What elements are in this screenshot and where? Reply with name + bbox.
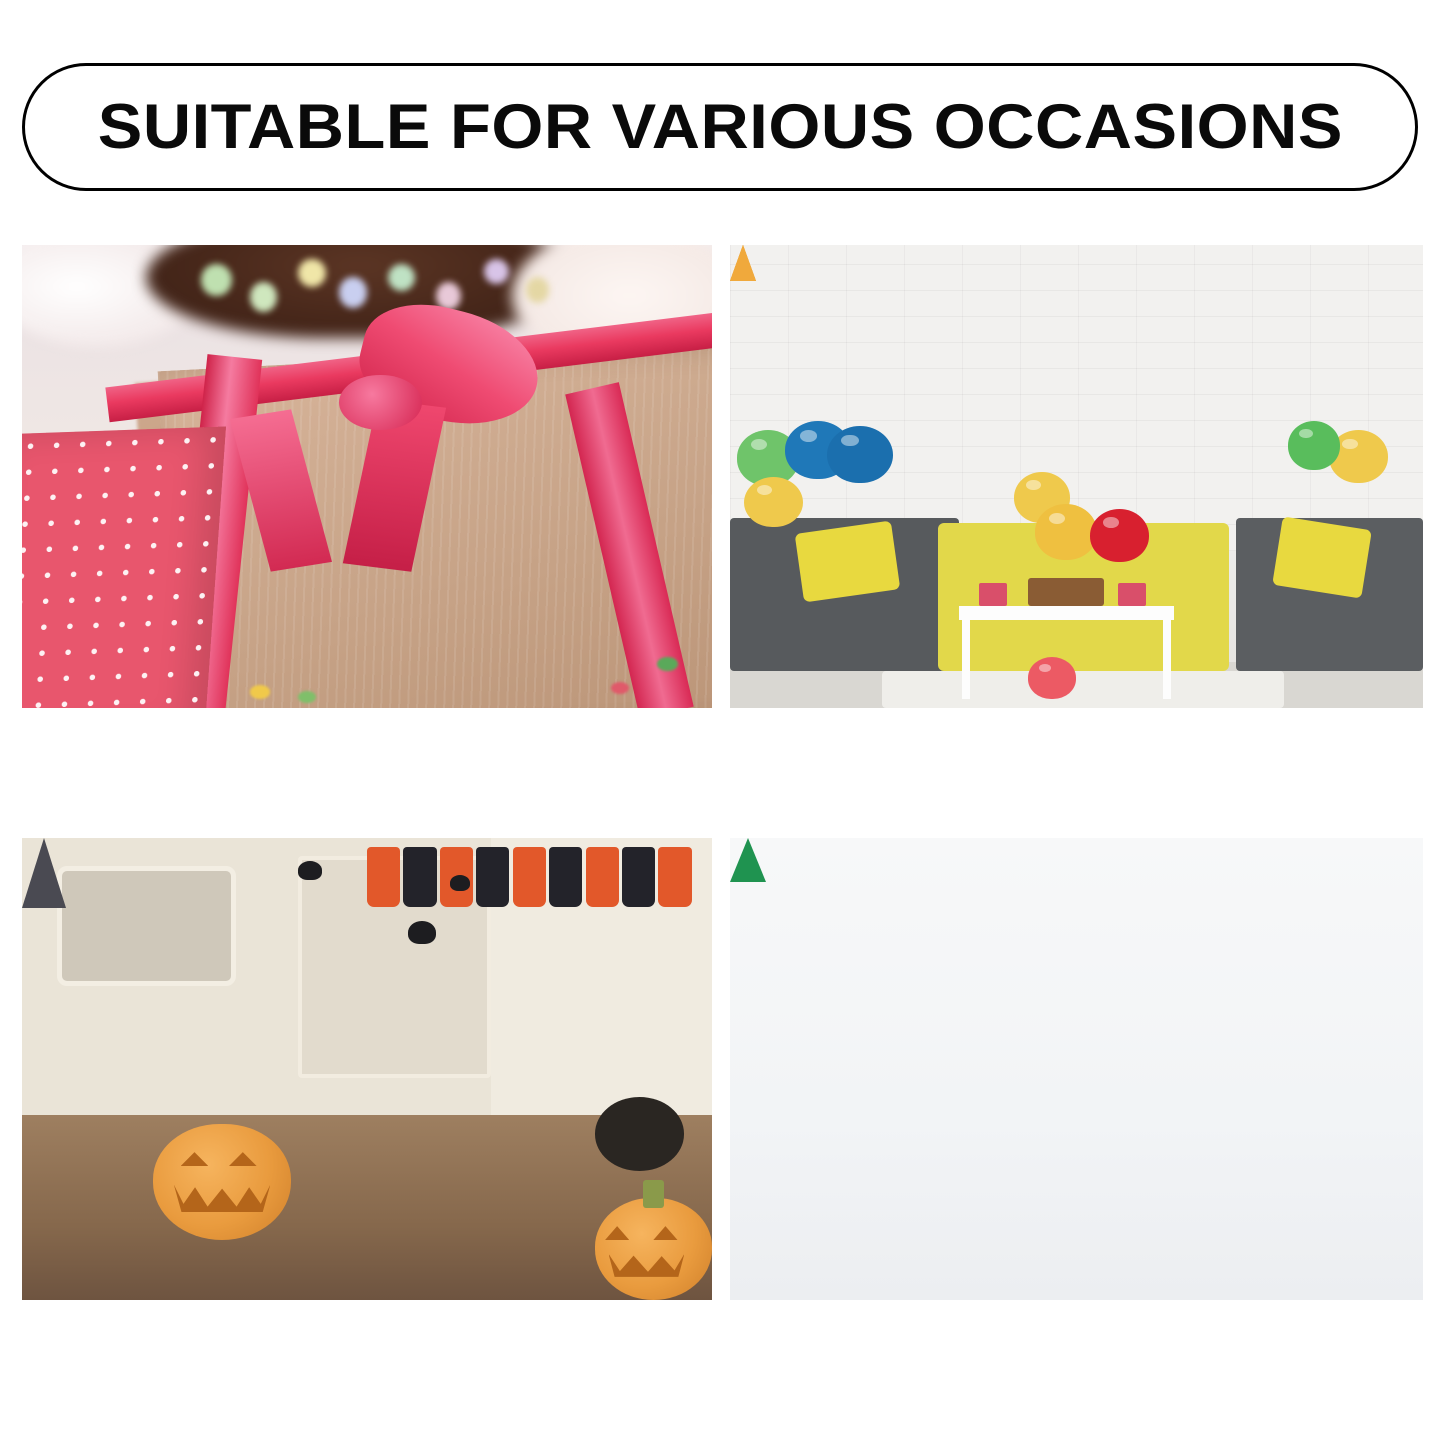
party-hat-icon: [730, 245, 756, 281]
bow-knot-icon: [339, 375, 422, 431]
cake-icon: [1028, 578, 1104, 606]
jack-o-lantern-2-icon: [595, 1198, 712, 1300]
bat-decoration-icon: [450, 875, 471, 891]
bat-decoration-icon: [408, 921, 436, 944]
halloween-photo: [22, 838, 712, 1300]
christmas-tree-icon: [730, 838, 766, 882]
party-table-icon: [959, 606, 1174, 620]
polka-dot-bag-icon: [22, 427, 226, 708]
occasion-card-halloween: Halloween: [22, 838, 712, 1300]
rug-icon: [882, 671, 1284, 708]
balloon-blue2-icon: [827, 426, 893, 484]
party-photo: [730, 245, 1423, 708]
cup-icon: [979, 583, 1007, 606]
balloon-green2-icon: [1288, 421, 1340, 470]
caravan-window-icon: [57, 866, 236, 986]
balloon-red-icon: [1090, 509, 1149, 562]
title-banner: SUITABLE FOR VARIOUS OCCASIONS: [22, 63, 1418, 191]
infographic-page: SUITABLE FOR VARIOUS OCCASIONS: [0, 0, 1445, 1445]
christmas-photo: [730, 838, 1423, 1300]
cup2-icon: [1118, 583, 1146, 606]
occasion-card-birthday-present: Birthday present: [22, 245, 712, 708]
occasion-card-party: Party: [730, 245, 1423, 708]
witch-hat-icon: [22, 838, 66, 908]
balloon-yellow4-icon: [1035, 504, 1097, 560]
jack-o-lantern-icon: [153, 1124, 291, 1240]
balloon-yellow-icon: [744, 477, 803, 528]
caravan-wheel-icon: [595, 1097, 685, 1171]
page-title: SUITABLE FOR VARIOUS OCCASIONS: [97, 91, 1342, 163]
pumpkin-garland-icon: [367, 847, 698, 907]
birthday-present-photo: [22, 245, 712, 708]
occasion-card-christmas: Christmas: [730, 838, 1423, 1300]
balloon-pink-icon: [1028, 657, 1077, 699]
bat-decoration-icon: [298, 861, 322, 879]
